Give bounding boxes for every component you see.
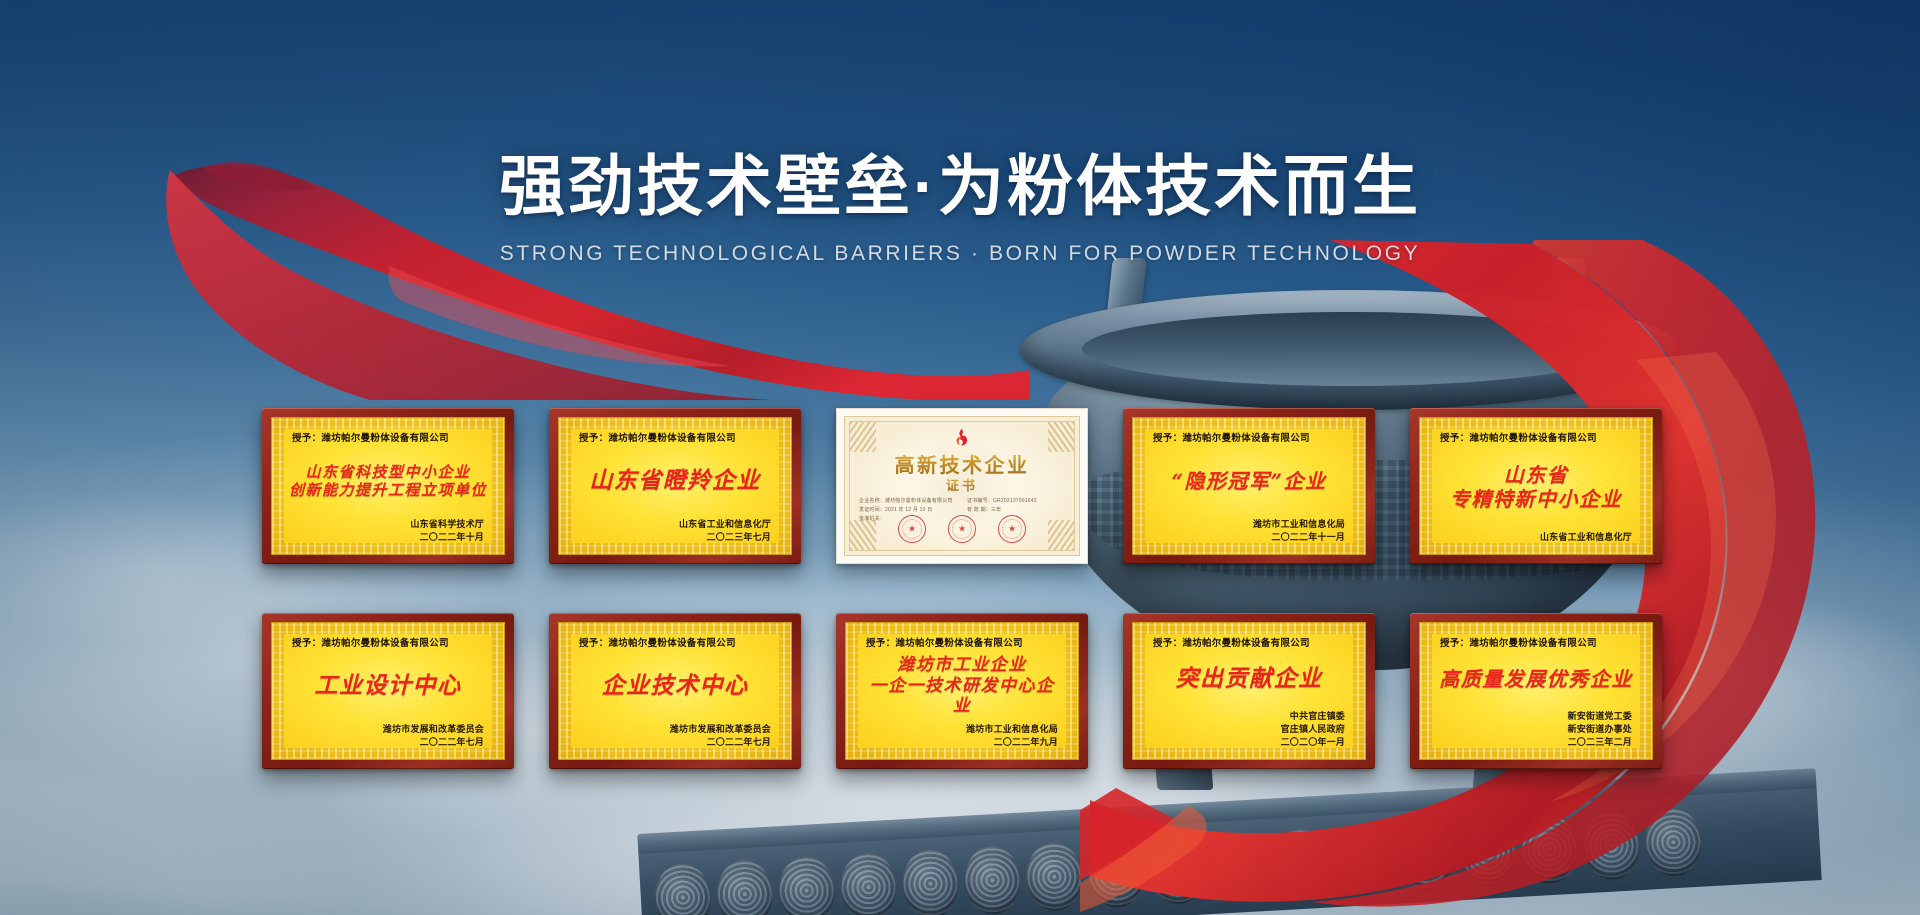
plaque-gold-panel: 授予：潍坊帕尔曼粉体设备有限公司突出贡献企业中共官庄镇委官庄镇人民政府二〇二〇年… [1132,622,1366,760]
plaque-issuer-line: 二〇二二年七月 [288,736,484,749]
plaque-title: 山东省瞪羚企业 [575,467,775,495]
plaque-gold-panel: 授予：潍坊帕尔曼粉体设备有限公司潍坊市工业企业一企一技术研发中心企业潍坊市工业和… [845,622,1079,760]
plaque-issuer-line: 二〇二二年十一月 [1149,531,1345,544]
plaque-content: 授予：潍坊帕尔曼粉体设备有限公司突出贡献企业中共官庄镇委官庄镇人民政府二〇二〇年… [1133,623,1365,759]
plaque-grantee: 授予：潍坊帕尔曼粉体设备有限公司 [1436,635,1636,649]
plaque-issuer: 新安街道党工委新安街道办事处二〇二三年二月 [1436,710,1636,749]
award-plaque[interactable]: 授予：潍坊帕尔曼粉体设备有限公司山东省瞪羚企业山东省工业和信息化厅二〇二三年七月 [549,408,801,564]
award-plaque[interactable]: 授予：潍坊帕尔曼粉体设备有限公司山东省专精特新中小企业山东省工业和信息化厅 [1410,408,1662,564]
plaque-title: “隐形冠军”企业 [1149,469,1349,493]
corner-ornament-icon [850,422,876,452]
plaque-title: 突出贡献企业 [1149,665,1349,693]
plaque-issuer-line: 中共官庄镇委 [1149,710,1345,723]
plaque-issuer: 潍坊市发展和改革委员会二〇二二年七月 [575,723,775,749]
plaque-content: 授予：潍坊帕尔曼粉体设备有限公司高质量发展优秀企业新安街道党工委新安街道办事处二… [1420,623,1652,759]
plaque-grantee: 授予：潍坊帕尔曼粉体设备有限公司 [575,430,775,444]
plaque-title: 企业技术中心 [575,672,775,700]
certificate-field: 有 效 期：三年 [967,506,1067,513]
plaque-title-line2: 专精特新中小企业 [1436,487,1636,511]
plaque-issuer: 潍坊市工业和信息化局二〇二二年十一月 [1149,518,1349,544]
plaque-grantee: 授予：潍坊帕尔曼粉体设备有限公司 [575,635,775,649]
plaque-issuer-line: 山东省工业和信息化厅 [575,518,771,531]
plaque-title-line2: 一企一技术研发中心企业 [862,676,1062,717]
plaque-issuer-line: 二〇二二年十月 [288,531,484,544]
plaque-grantee: 授予：潍坊帕尔曼粉体设备有限公司 [862,635,1062,649]
plaque-gold-panel: 授予：潍坊帕尔曼粉体设备有限公司山东省专精特新中小企业山东省工业和信息化厅 [1419,417,1653,555]
certificate-inner: 高新技术企业证书企业名称：潍坊帕尔曼粉体设备有限公司证书编号：GR2021370… [844,416,1080,556]
plaque-issuer-line: 新安街道办事处 [1436,723,1632,736]
certificate-subtitle: 证书 [845,475,1079,494]
plaque-gold-panel: 授予：潍坊帕尔曼粉体设备有限公司“隐形冠军”企业潍坊市工业和信息化局二〇二二年十… [1132,417,1366,555]
award-plaque[interactable]: 授予：潍坊帕尔曼粉体设备有限公司山东省科技型中小企业创新能力提升工程立项单位山东… [262,408,514,564]
plaque-gold-panel: 授予：潍坊帕尔曼粉体设备有限公司工业设计中心潍坊市发展和改革委员会二〇二二年七月 [271,622,505,760]
award-plaque[interactable]: 授予：潍坊帕尔曼粉体设备有限公司突出贡献企业中共官庄镇委官庄镇人民政府二〇二〇年… [1123,613,1375,769]
banner-stage: 强劲技术壁垒·为粉体技术而生 STRONG TECHNOLOGICAL BARR… [0,0,1920,915]
plaque-issuer-line: 新安街道党工委 [1436,710,1632,723]
award-plaque[interactable]: 授予：潍坊帕尔曼粉体设备有限公司“隐形冠军”企业潍坊市工业和信息化局二〇二二年十… [1123,408,1375,564]
plaque-content: 授予：潍坊帕尔曼粉体设备有限公司潍坊市工业企业一企一技术研发中心企业潍坊市工业和… [846,623,1078,759]
plaque-issuer-line: 官庄镇人民政府 [1149,723,1345,736]
plaque-gold-panel: 授予：潍坊帕尔曼粉体设备有限公司山东省科技型中小企业创新能力提升工程立项单位山东… [271,417,505,555]
plaque-issuer-line: 二〇二〇年一月 [1149,736,1345,749]
certificate-field: 证书编号：GR202137001642 [967,497,1067,504]
plaque-issuer: 潍坊市发展和改革委员会二〇二二年七月 [288,723,488,749]
plaque-title: 山东省科技型中小企业创新能力提升工程立项单位 [288,463,488,500]
certificate-field: 发证时间：2021 年 12 月 10 日 [859,506,959,513]
official-seal-icon [898,515,926,543]
plaque-title: 潍坊市工业企业一企一技术研发中心企业 [862,655,1062,717]
plaque-issuer: 山东省工业和信息化厅二〇二三年七月 [575,518,775,544]
plaque-gold-panel: 授予：潍坊帕尔曼粉体设备有限公司高质量发展优秀企业新安街道党工委新安街道办事处二… [1419,622,1653,760]
plaque-issuer-line: 山东省工业和信息化厅 [1436,531,1632,544]
plaque-grantee: 授予：潍坊帕尔曼粉体设备有限公司 [1149,635,1349,649]
plaque-issuer-line: 山东省科学技术厅 [288,518,484,531]
award-certificate[interactable]: 高新技术企业证书企业名称：潍坊帕尔曼粉体设备有限公司证书编号：GR2021370… [836,408,1088,564]
plaque-issuer-line: 潍坊市工业和信息化局 [862,723,1058,736]
plaque-issuer-line: 二〇二三年二月 [1436,736,1632,749]
plaque-issuer: 中共官庄镇委官庄镇人民政府二〇二〇年一月 [1149,710,1349,749]
plaque-title: 山东省专精特新中小企业 [1436,463,1636,512]
plaque-title-line2: 创新能力提升工程立项单位 [288,481,488,499]
award-plaque[interactable]: 授予：潍坊帕尔曼粉体设备有限公司潍坊市工业企业一企一技术研发中心企业潍坊市工业和… [836,613,1088,769]
plaque-grantee: 授予：潍坊帕尔曼粉体设备有限公司 [1436,430,1636,444]
certificate-title: 高新技术企业 [845,449,1079,478]
plaque-grantee: 授予：潍坊帕尔曼粉体设备有限公司 [288,430,488,444]
award-plaque[interactable]: 授予：潍坊帕尔曼粉体设备有限公司企业技术中心潍坊市发展和改革委员会二〇二二年七月 [549,613,801,769]
plaque-issuer-line: 潍坊市发展和改革委员会 [575,723,771,736]
plaque-grantee: 授予：潍坊帕尔曼粉体设备有限公司 [1149,430,1349,444]
plaque-content: 授予：潍坊帕尔曼粉体设备有限公司工业设计中心潍坊市发展和改革委员会二〇二二年七月 [272,623,504,759]
plaque-issuer: 山东省工业和信息化厅 [1436,531,1636,544]
flame-logo-icon [951,428,973,450]
plaque-issuer-line: 二〇二二年七月 [575,736,771,749]
plaque-content: 授予：潍坊帕尔曼粉体设备有限公司山东省瞪羚企业山东省工业和信息化厅二〇二三年七月 [559,418,791,554]
plaque-grantee: 授予：潍坊帕尔曼粉体设备有限公司 [288,635,488,649]
page-subtitle: STRONG TECHNOLOGICAL BARRIERS · BORN FOR… [0,242,1920,266]
plaque-content: 授予：潍坊帕尔曼粉体设备有限公司山东省专精特新中小企业山东省工业和信息化厅 [1420,418,1652,554]
plaque-content: 授予：潍坊帕尔曼粉体设备有限公司企业技术中心潍坊市发展和改革委员会二〇二二年七月 [559,623,791,759]
plaque-issuer-line: 二〇二三年七月 [575,531,771,544]
certificate-seals [845,515,1079,543]
plaque-issuer: 潍坊市工业和信息化局二〇二二年九月 [862,723,1062,749]
award-plaque[interactable]: 授予：潍坊帕尔曼粉体设备有限公司高质量发展优秀企业新安街道党工委新安街道办事处二… [1410,613,1662,769]
awards-grid: 授予：潍坊帕尔曼粉体设备有限公司山东省科技型中小企业创新能力提升工程立项单位山东… [262,408,1662,769]
plaque-gold-panel: 授予：潍坊帕尔曼粉体设备有限公司山东省瞪羚企业山东省工业和信息化厅二〇二三年七月 [558,417,792,555]
plaque-content: 授予：潍坊帕尔曼粉体设备有限公司山东省科技型中小企业创新能力提升工程立项单位山东… [272,418,504,554]
plaque-issuer-line: 二〇二二年九月 [862,736,1058,749]
headline-block: 强劲技术壁垒·为粉体技术而生 STRONG TECHNOLOGICAL BARR… [0,150,1920,266]
corner-ornament-icon [1048,422,1074,452]
plaque-issuer-line: 潍坊市工业和信息化局 [1149,518,1345,531]
official-seal-icon [948,515,976,543]
official-seal-icon [998,515,1026,543]
plaque-issuer: 山东省科学技术厅二〇二二年十月 [288,518,488,544]
plaque-gold-panel: 授予：潍坊帕尔曼粉体设备有限公司企业技术中心潍坊市发展和改革委员会二〇二二年七月 [558,622,792,760]
plaque-title: 工业设计中心 [288,672,488,700]
plaque-content: 授予：潍坊帕尔曼粉体设备有限公司“隐形冠军”企业潍坊市工业和信息化局二〇二二年十… [1133,418,1365,554]
plaque-title: 高质量发展优秀企业 [1436,667,1636,691]
plaque-issuer-line: 潍坊市发展和改革委员会 [288,723,484,736]
award-plaque[interactable]: 授予：潍坊帕尔曼粉体设备有限公司工业设计中心潍坊市发展和改革委员会二〇二二年七月 [262,613,514,769]
certificate-field: 企业名称：潍坊帕尔曼粉体设备有限公司 [859,497,959,504]
page-title: 强劲技术壁垒·为粉体技术而生 [0,150,1920,224]
